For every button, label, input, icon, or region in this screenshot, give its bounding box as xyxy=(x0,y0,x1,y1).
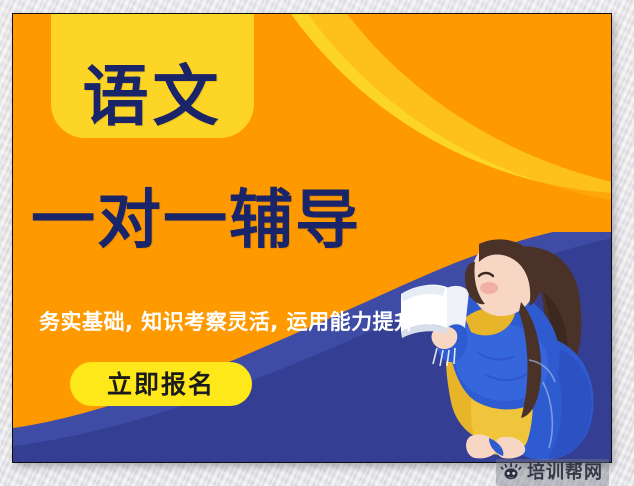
sun-face-icon xyxy=(500,463,522,482)
site-watermark-text: 培训帮网 xyxy=(527,464,603,482)
subject-badge-label: 语文 xyxy=(83,64,223,130)
subject-badge: 语文 xyxy=(51,13,254,138)
screenshot-canvas: 语文 一对一辅导 务实基础, 知识考察灵活, 运用能力提升 立即报名 xyxy=(0,0,634,486)
enroll-now-button-label: 立即报名 xyxy=(107,372,215,397)
poster-headline: 一对一辅导 xyxy=(31,189,361,253)
seated-woman-reading-book-illustration xyxy=(393,232,612,463)
enroll-now-button[interactable]: 立即报名 xyxy=(70,362,252,406)
poster-subtitle: 务实基础, 知识考察灵活, 运用能力提升 xyxy=(39,306,416,336)
course-promo-poster: 语文 一对一辅导 务实基础, 知识考察灵活, 运用能力提升 立即报名 xyxy=(12,13,612,463)
site-watermark: 培训帮网 xyxy=(496,459,609,486)
